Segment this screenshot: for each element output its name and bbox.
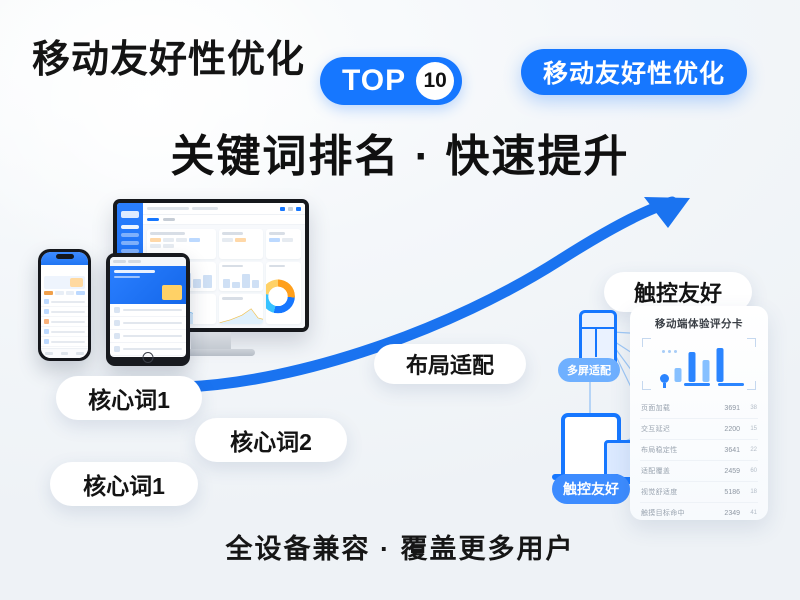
tablet-screen — [110, 257, 186, 357]
row-name: 布局稳定性 — [641, 445, 712, 455]
figure-underline — [718, 383, 744, 386]
page-kicker: 移动友好性优化 — [32, 28, 305, 83]
row-value: 2200 — [716, 426, 740, 433]
card-line-chart — [223, 271, 259, 289]
promo-thumbnail — [70, 278, 83, 287]
top-rank-badge: TOP 10 — [320, 57, 462, 105]
bracket-icon — [747, 381, 756, 390]
scorecard-figure — [642, 338, 756, 390]
phone-icon-split-h — [582, 327, 614, 329]
hero-title-line — [114, 270, 155, 273]
donut-chart-icon — [266, 279, 295, 313]
bracket-icon — [642, 338, 651, 347]
card-chip-row — [222, 238, 260, 242]
tablet-body — [106, 253, 190, 366]
dot — [662, 350, 665, 353]
dashboard-card-lines — [219, 262, 263, 292]
card-chip-row — [269, 238, 298, 242]
topbar-action-icon — [288, 207, 293, 211]
row-value: 3641 — [716, 447, 740, 454]
top-badge-number: 10 — [416, 62, 454, 100]
figure-bar — [703, 360, 710, 382]
card-label — [150, 232, 185, 235]
touch-friendly-pill[interactable]: 触控友好 — [552, 474, 630, 504]
dashboard-nav-item — [121, 225, 139, 229]
footer-tagline: 全设备兼容 · 覆盖更多用户 — [0, 527, 800, 566]
list-text — [123, 335, 182, 338]
card-chip — [176, 238, 187, 242]
dashboard-tab — [163, 218, 175, 221]
tablet-list-item — [110, 330, 186, 343]
mobile-friendly-chip: 移动友好性优化 — [521, 49, 747, 95]
phone-tab-bar — [41, 348, 88, 358]
phone-result-item — [41, 317, 88, 327]
result-text — [51, 311, 85, 313]
bar — [232, 282, 240, 288]
phone-chip — [55, 291, 64, 295]
card-chip — [150, 238, 161, 242]
row-value: 2349 — [716, 510, 740, 517]
table-row: 视觉舒适度 5186 18 — [640, 482, 758, 503]
bracket-icon — [642, 381, 651, 390]
multi-screen-pill[interactable]: 多屏适配 — [558, 358, 620, 382]
row-delta: 41 — [744, 510, 757, 516]
dot — [668, 350, 671, 353]
area-chart — [219, 306, 263, 324]
row-delta: 60 — [744, 468, 757, 474]
mobile-experience-panel: 多屏适配 触控友好 移动端体验评分卡 — [546, 300, 768, 520]
phone-mockup — [38, 249, 91, 361]
list-icon — [114, 333, 120, 339]
list-text — [123, 348, 182, 351]
dashboard-card-stat — [219, 229, 263, 259]
topbar-breadcrumb — [147, 207, 189, 210]
tablet-home-button — [143, 352, 154, 363]
dashboard-tabs — [143, 215, 305, 225]
dashboard-card-side — [266, 229, 301, 259]
tab-bar-item — [61, 352, 69, 355]
phone-result-item — [41, 327, 88, 337]
row-name: 页面加载 — [641, 403, 712, 413]
row-value: 3691 — [716, 405, 740, 412]
list-text — [123, 309, 182, 312]
top-badge-word: TOP — [342, 66, 406, 96]
table-row: 适配覆盖 2459 60 — [640, 461, 758, 482]
phone-result-item — [41, 297, 88, 307]
phone-result-item — [41, 337, 88, 347]
row-delta: 22 — [744, 447, 757, 453]
bar — [193, 279, 201, 289]
topbar-avatar — [296, 207, 301, 211]
list-text — [123, 322, 182, 325]
table-row: 布局稳定性 3641 22 — [640, 440, 758, 461]
card-label — [269, 265, 285, 268]
dashboard-topbar — [143, 203, 305, 215]
result-icon — [44, 299, 49, 304]
bar — [242, 274, 250, 288]
card-chip — [222, 238, 233, 242]
result-text — [51, 301, 85, 303]
dashboard-tab — [147, 218, 159, 221]
row-name: 交互延迟 — [641, 424, 712, 434]
row-value: 5186 — [716, 489, 740, 496]
card-chip — [150, 244, 161, 248]
tablet-header-item — [113, 260, 126, 263]
result-icon — [44, 309, 49, 314]
bar — [252, 280, 260, 288]
table-row: 交互延迟 2200 15 — [640, 419, 758, 440]
bar — [203, 275, 211, 288]
phone-chip — [44, 291, 53, 295]
card-chip — [269, 238, 280, 242]
scorecard-rows: 页面加载 3691 38 交互延迟 2200 15 布局稳定性 3641 22 … — [640, 398, 758, 523]
row-value: 2459 — [716, 468, 740, 475]
list-icon — [114, 320, 120, 326]
phone-result-item — [41, 307, 88, 317]
tab-bar-item — [45, 352, 53, 355]
card-chip — [282, 238, 293, 242]
hero-thumbnail — [162, 285, 182, 300]
scorecard-title: 移动端体验评分卡 — [640, 316, 758, 331]
topbar-action-icon — [280, 207, 285, 211]
card-chip — [163, 244, 174, 248]
figure-bar — [717, 348, 724, 382]
tablet-list-item — [110, 317, 186, 330]
phone-notch — [56, 254, 74, 259]
figure-underline — [684, 383, 710, 386]
tab-bar-item — [76, 352, 84, 355]
tablet-header-item — [128, 260, 141, 263]
dashboard-logo — [121, 211, 139, 218]
layout-pill[interactable]: 布局适配 — [374, 344, 526, 384]
result-text — [51, 331, 85, 333]
card-chip — [189, 238, 200, 242]
dashboard-nav-item — [121, 233, 139, 237]
list-icon — [114, 346, 120, 352]
keyword-pill-2[interactable]: 核心词2 — [195, 418, 347, 462]
page-title: 关键词排名 · 快速提升 — [0, 120, 800, 184]
card-label — [222, 232, 243, 235]
table-row: 触摸目标命中 2349 41 — [640, 503, 758, 523]
magnifier-icon — [660, 374, 669, 383]
card-chip — [235, 238, 246, 242]
hero-sub-line — [114, 276, 140, 279]
phone-body — [38, 249, 91, 361]
tablet-hero-banner — [110, 266, 186, 304]
tablet-list-item — [110, 304, 186, 317]
bar — [223, 279, 231, 289]
phone-chip — [76, 291, 85, 295]
bracket-icon — [747, 338, 756, 347]
card-chip-row — [150, 238, 213, 248]
scorecard: 移动端体验评分卡 — [630, 306, 768, 520]
card-label — [269, 232, 285, 235]
figure-bar — [689, 352, 696, 382]
poster-canvas: 移动友好性优化 TOP 10 移动友好性优化 关键词排名 · 快速提升 — [0, 0, 800, 600]
card-label — [222, 265, 243, 268]
phone-chip — [66, 291, 75, 295]
table-row: 页面加载 3691 38 — [640, 398, 758, 419]
result-icon — [44, 319, 49, 324]
figure-bars — [675, 346, 724, 382]
result-text — [51, 321, 85, 323]
monitor-stand — [191, 332, 231, 350]
row-delta: 18 — [744, 489, 757, 495]
card-label — [222, 297, 243, 300]
keyword-pill-1[interactable]: 核心词1 — [56, 376, 202, 420]
row-name: 视觉舒适度 — [641, 487, 712, 497]
list-icon — [114, 307, 120, 313]
dashboard-card-area-2 — [219, 294, 263, 324]
phone-search-bar — [44, 267, 85, 274]
tablet-mockup — [106, 253, 190, 366]
dashboard-nav-item — [121, 241, 139, 245]
phone-promo-card — [44, 276, 85, 289]
row-delta: 15 — [744, 426, 757, 432]
result-icon — [44, 329, 49, 334]
row-name: 触摸目标命中 — [641, 508, 712, 518]
tablet-header — [110, 257, 186, 266]
phone-icon-split-v — [595, 327, 597, 357]
phone-screen — [41, 252, 88, 358]
dashboard-card-donut — [266, 262, 301, 324]
row-name: 适配覆盖 — [641, 466, 712, 476]
card-chip — [163, 238, 174, 242]
topbar-search — [192, 207, 218, 210]
figure-bar — [675, 368, 682, 382]
keyword-pill-3[interactable]: 核心词1 — [50, 462, 198, 506]
result-text — [51, 341, 85, 343]
result-icon — [44, 339, 49, 344]
row-delta: 38 — [744, 405, 757, 411]
